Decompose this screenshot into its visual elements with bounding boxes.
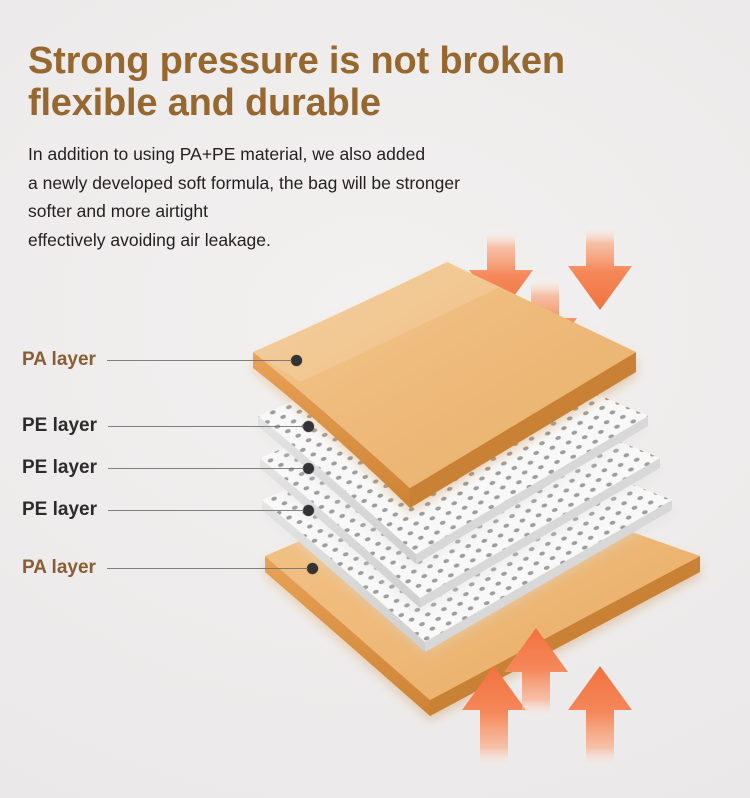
product-feature-panel: Strong pressure is not broken flexible a… — [0, 0, 750, 798]
callout-label: PE layer — [22, 413, 97, 439]
layer-pe-1 — [258, 330, 648, 564]
callout-anchor-dot — [303, 463, 314, 474]
callout-label: PE layer — [22, 497, 97, 523]
callout-leader-line — [108, 426, 304, 427]
layer-pe-2 — [260, 372, 660, 608]
callout-pe-layer-4: PE layer — [22, 497, 314, 523]
description-text: In addition to using PA+PE material, we … — [28, 140, 628, 254]
pressure-arrows-up — [462, 628, 632, 770]
callout-leader-line — [107, 568, 308, 569]
callout-label: PE layer — [22, 455, 97, 481]
callout-anchor-dot — [303, 505, 314, 516]
callout-leader-line — [107, 360, 292, 361]
callout-label: PA layer — [22, 555, 96, 581]
callout-anchor-dot — [307, 563, 318, 574]
callout-anchor-dot — [291, 355, 302, 366]
callout-pe-layer-2: PE layer — [22, 413, 314, 439]
layer-pa-bottom — [265, 470, 700, 716]
callout-label: PA layer — [22, 347, 96, 373]
callout-pe-layer-3: PE layer — [22, 455, 314, 481]
callout-leader-line — [108, 510, 304, 511]
layer-pe-3 — [262, 414, 672, 652]
callout-pa-layer-5: PA layer — [22, 555, 318, 581]
callout-anchor-dot — [303, 421, 314, 432]
callout-leader-line — [108, 468, 304, 469]
page-title: Strong pressure is not broken flexible a… — [28, 40, 668, 124]
callout-pa-layer-1: PA layer — [22, 347, 302, 373]
